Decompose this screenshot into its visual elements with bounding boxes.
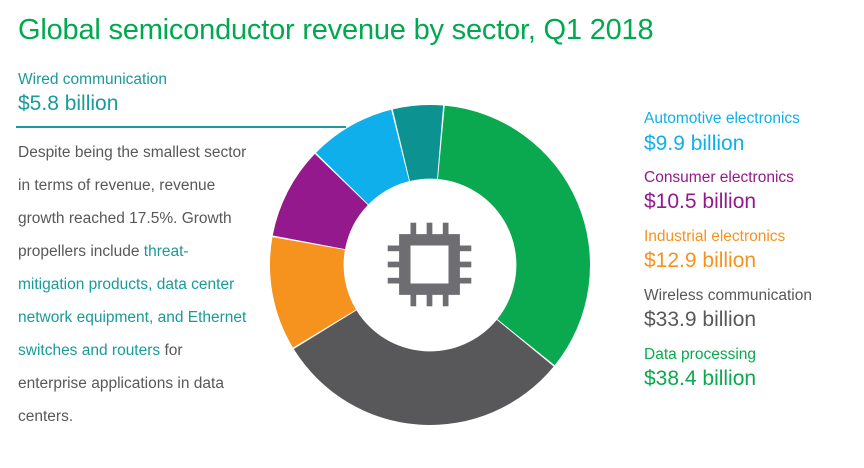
legend-value: $9.9 billion xyxy=(644,130,859,157)
legend-item-consumer: Consumer electronics $10.5 billion xyxy=(644,169,859,216)
legend-name: Industrial electronics xyxy=(644,228,859,247)
legend-value: $38.4 billion xyxy=(644,365,859,392)
callout-body-text: Despite being the smallest sector in ter… xyxy=(18,136,253,433)
wired-communication-callout: Wired communication $5.8 billion xyxy=(18,70,258,118)
body-text-part-1: Despite being the smallest sector in ter… xyxy=(18,144,246,260)
page-title: Global semiconductor revenue by sector, … xyxy=(18,14,653,47)
legend-item-wireless: Wireless communication $33.9 billion xyxy=(644,287,859,334)
sector-legend: Automotive electronics $9.9 billion Cons… xyxy=(644,110,859,392)
legend-value: $10.5 billion xyxy=(644,188,859,215)
legend-name: Consumer electronics xyxy=(644,169,859,188)
callout-sector-name: Wired communication xyxy=(18,70,258,89)
legend-name: Automotive electronics xyxy=(644,110,859,129)
legend-value: $33.9 billion xyxy=(644,306,859,333)
legend-name: Data processing xyxy=(644,346,859,365)
infographic-canvas: Global semiconductor revenue by sector, … xyxy=(0,0,864,468)
legend-name: Wireless communication xyxy=(644,287,859,306)
body-text-link[interactable]: threat-mitigation products, data center … xyxy=(18,243,246,359)
legend-item-data-processing: Data processing $38.4 billion xyxy=(644,346,859,393)
microchip-icon xyxy=(382,217,477,312)
legend-value: $12.9 billion xyxy=(644,247,859,274)
callout-sector-value: $5.8 billion xyxy=(18,90,258,117)
legend-item-automotive: Automotive electronics $9.9 billion xyxy=(644,110,859,157)
legend-item-industrial: Industrial electronics $12.9 billion xyxy=(644,228,859,275)
microchip-icon-svg xyxy=(382,217,477,312)
